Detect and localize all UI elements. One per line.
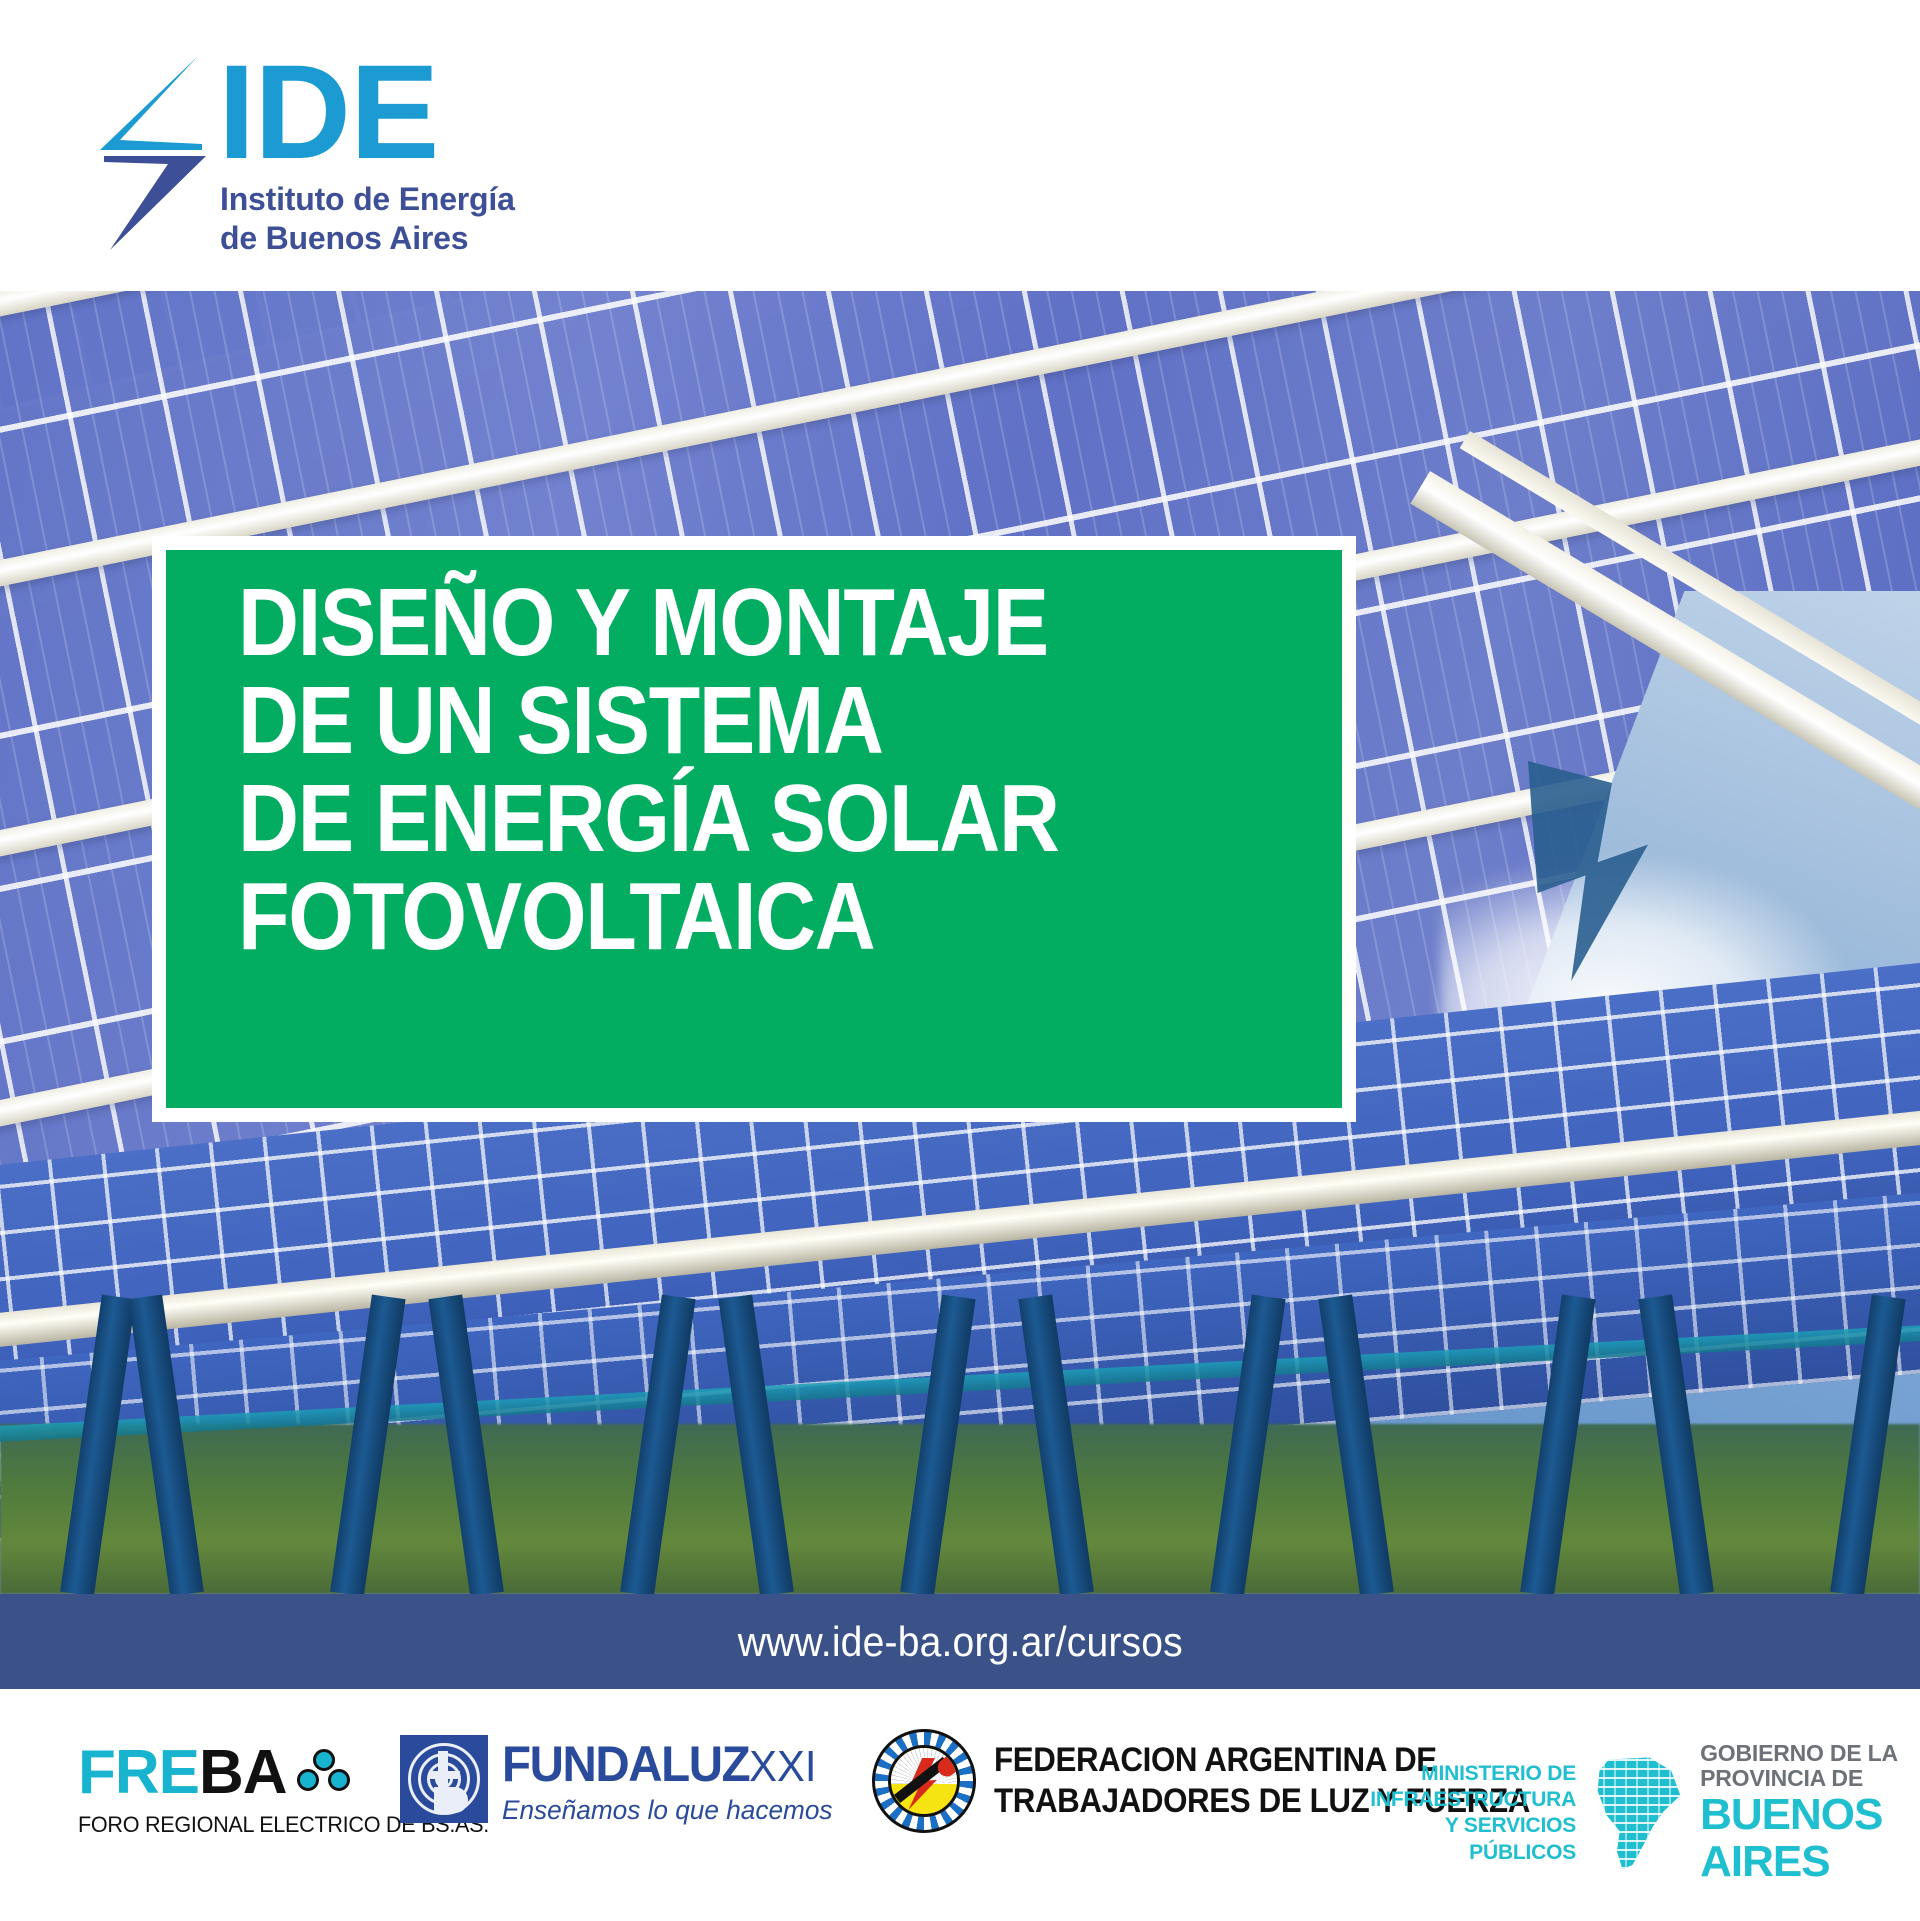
gear-lightning-torch-icon bbox=[872, 1729, 976, 1833]
ide-acronym: IDE bbox=[218, 46, 438, 180]
fundaluz-emblem-icon bbox=[400, 1735, 488, 1823]
partner-logo-fundaluz: FUNDALUZXXI Enseñamos lo que hacemos bbox=[400, 1735, 843, 1826]
fundaluz-name-row: FUNDALUZXXI bbox=[502, 1735, 826, 1793]
partner-logo-freba: FRE BA FORO REGIONAL ELECTRICO DE BS.AS. bbox=[78, 1737, 368, 1838]
gobierno-line2: BUENOS AIRES bbox=[1700, 1791, 1920, 1886]
three-circles-icon bbox=[297, 1749, 351, 1797]
partner-logos-footer: FRE BA FORO REGIONAL ELECTRICO DE BS.AS.… bbox=[0, 1689, 1920, 1921]
partner-logo-gobierno-buenos-aires: MINISTERIO DE INFRAESTRUCTURA Y SERVICIO… bbox=[1356, 1741, 1920, 1886]
freba-name-part2: BA bbox=[199, 1737, 287, 1808]
ministry-label: MINISTERIO DE INFRAESTRUCTURA Y SERVICIO… bbox=[1356, 1761, 1576, 1866]
ide-logo: IDE Instituto de Energía de Buenos Aires bbox=[98, 52, 618, 252]
fundaluz-tagline: Enseñamos lo que hacemos bbox=[502, 1795, 832, 1826]
lightning-bolt-icon bbox=[98, 52, 210, 252]
freba-wordmark: FRE BA bbox=[78, 1737, 368, 1808]
gobierno-wordmark: GOBIERNO DE LA PROVINCIA DE BUENOS AIRES bbox=[1700, 1741, 1920, 1886]
grass-ground bbox=[0, 1424, 1920, 1594]
fundaluz-wordmark: FUNDALUZXXI Enseñamos lo que hacemos bbox=[502, 1735, 843, 1826]
fundaluz-name: FUNDALUZ bbox=[502, 1736, 749, 1792]
freba-name-part1: FRE bbox=[78, 1737, 199, 1808]
course-title: DISEÑO Y MONTAJE DE UN SISTEMA DE ENERGÍ… bbox=[238, 574, 1192, 966]
ide-subtitle: Instituto de Energía de Buenos Aires bbox=[220, 180, 515, 258]
buenos-aires-province-map-icon bbox=[1592, 1757, 1684, 1869]
ide-acronym-wrap: IDE bbox=[218, 46, 438, 180]
poster-root: IDE Instituto de Energía de Buenos Aires bbox=[0, 0, 1920, 1921]
freba-tagline: FORO REGIONAL ELECTRICO DE BS.AS. bbox=[78, 1812, 356, 1838]
website-url-bar[interactable]: www.ide-ba.org.ar/cursos bbox=[0, 1594, 1920, 1689]
header-bar: IDE Instituto de Energía de Buenos Aires bbox=[0, 0, 1920, 291]
title-card-frame: DISEÑO Y MONTAJE DE UN SISTEMA DE ENERGÍ… bbox=[152, 536, 1356, 1122]
website-url-text[interactable]: www.ide-ba.org.ar/cursos bbox=[737, 1618, 1182, 1666]
gobierno-line1: GOBIERNO DE LA PROVINCIA DE bbox=[1700, 1741, 1920, 1791]
fundaluz-name-suffix: XXI bbox=[749, 1742, 816, 1791]
title-card: DISEÑO Y MONTAJE DE UN SISTEMA DE ENERGÍ… bbox=[166, 550, 1342, 1108]
